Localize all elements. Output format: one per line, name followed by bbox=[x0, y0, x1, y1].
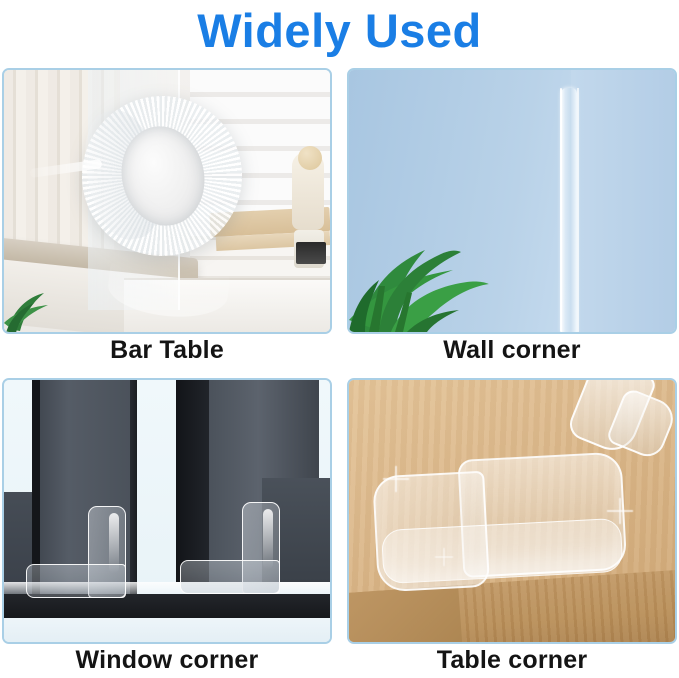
clear-wall-corner-guard bbox=[561, 88, 577, 332]
bumper-bottom-rim bbox=[381, 518, 623, 584]
window-sash-divider bbox=[130, 380, 137, 598]
green-plant-icon bbox=[349, 200, 497, 332]
figurine-head bbox=[298, 146, 322, 170]
scene-window-corner bbox=[4, 380, 330, 642]
sparkle-icon bbox=[435, 548, 453, 566]
photo-window-corner[interactable] bbox=[2, 378, 332, 644]
scene-bar-table bbox=[4, 70, 330, 332]
guard-horizontal-arm bbox=[26, 564, 126, 598]
scene-table-corner bbox=[349, 380, 675, 642]
caption-window-corner: Window corner bbox=[2, 646, 332, 675]
clear-corner-guard-left bbox=[26, 506, 126, 598]
guard-horizontal-arm bbox=[180, 560, 280, 594]
wall-right-face bbox=[571, 70, 675, 332]
sparkle-icon bbox=[383, 466, 409, 492]
guard-highlight-edge-left bbox=[560, 88, 562, 332]
sparkle-icon bbox=[607, 498, 633, 524]
installed-corner-bumper bbox=[372, 452, 629, 605]
caption-wall-corner: Wall corner bbox=[347, 336, 677, 365]
photo-bar-table[interactable] bbox=[2, 68, 332, 334]
potted-plant-icon bbox=[4, 275, 56, 333]
caption-bar-table: Bar Table bbox=[2, 336, 332, 365]
photo-wall-corner[interactable] bbox=[347, 68, 677, 334]
page-title: Widely Used bbox=[0, 2, 679, 60]
panel-table-corner[interactable]: Table corner bbox=[347, 378, 677, 678]
panel-window-corner[interactable]: Window corner bbox=[2, 378, 332, 678]
panel-wall-corner[interactable]: Wall corner bbox=[347, 68, 677, 368]
clear-corner-guard-right bbox=[180, 502, 280, 594]
panel-bar-table[interactable]: Bar Table bbox=[2, 68, 332, 368]
decor-box bbox=[296, 242, 326, 264]
photo-table-corner[interactable] bbox=[347, 378, 677, 644]
panel-grid: Bar Table bbox=[0, 68, 679, 676]
caption-table-corner: Table corner bbox=[347, 646, 677, 675]
scene-wall-corner bbox=[349, 70, 675, 332]
guard-highlight-edge-right bbox=[577, 88, 579, 332]
product-feature-collage: Widely Used bbox=[0, 0, 679, 676]
floor-strip bbox=[4, 618, 330, 642]
